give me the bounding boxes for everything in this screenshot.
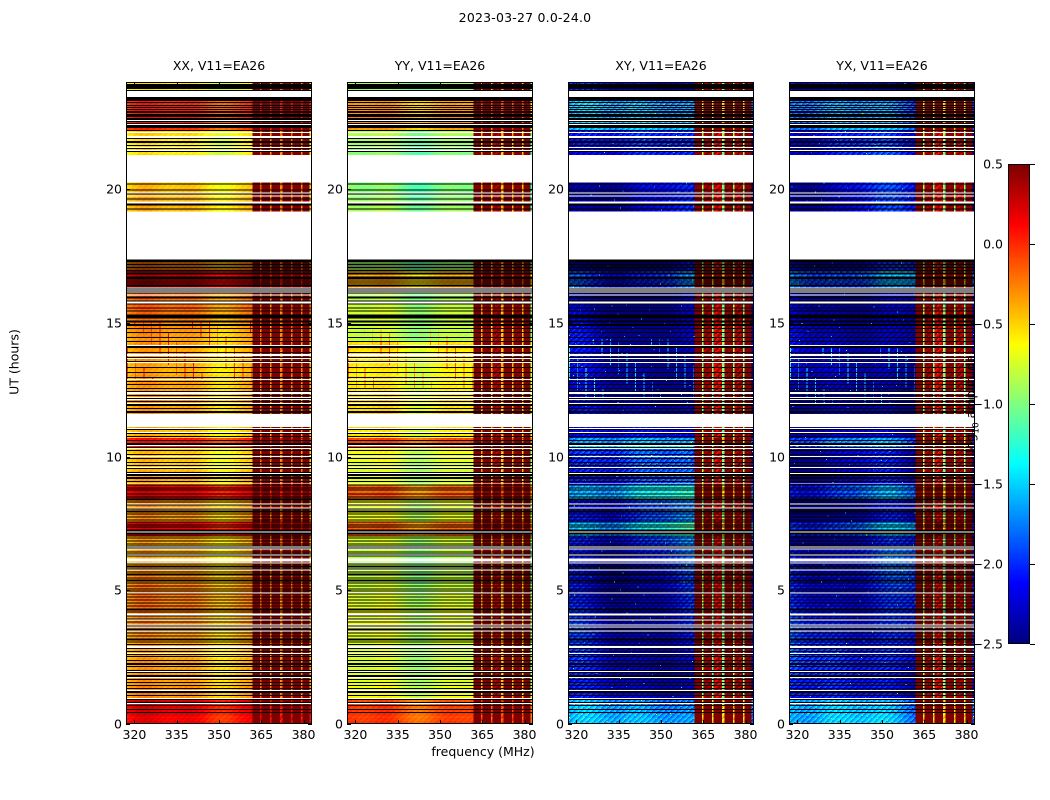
y-axis-tick-label: 15 [106,315,122,330]
x-axis-tick-mark-top [261,82,262,86]
x-axis-tick-mark-top [177,82,178,86]
y-axis-label: UT (hours) [7,329,22,395]
colorbar-tick-mark [1030,404,1035,405]
x-axis-tick-mark-top [355,82,356,86]
panel-title-yy: YY, V11=EA26 [347,58,533,76]
x-axis-tick-mark [924,720,925,724]
y-axis-tick-label: 15 [327,315,343,330]
figure-canvas: 2023-03-27 0.0-24.0 XX, V11=EA26 YY, V11… [0,0,1050,800]
heatmap-panel-yx[interactable] [789,82,975,724]
x-axis-tick-mark-top [619,82,620,86]
colorbar-tick-label: 0.0 [983,237,1003,252]
x-axis-tick-label: 335 [828,727,852,742]
colorbar-tick-mark [1030,644,1035,645]
x-axis-tick-mark [398,720,399,724]
colorbar-tick-label: −1.5 [973,477,1003,492]
x-axis-tick-mark-top [576,82,577,86]
y-axis-tick-mark [126,590,130,591]
x-axis-tick-label: 320 [565,727,589,742]
colorbar-tick-mark [1030,164,1035,165]
y-axis-tick-mark [347,457,351,458]
y-axis-tick-label: 15 [548,315,564,330]
y-axis-tick-label: 20 [769,182,785,197]
y-axis-tick-mark [789,457,793,458]
x-axis-tick-mark-top [482,82,483,86]
x-axis-tick-label: 365 [470,727,494,742]
colorbar-tick-mark [1030,564,1035,565]
x-axis-tick-label: 365 [691,727,715,742]
x-axis-tick-mark [219,720,220,724]
x-axis-tick-label: 365 [912,727,936,742]
x-axis-tick-mark-top [219,82,220,86]
x-axis-tick-label: 320 [344,727,368,742]
y-axis-tick-label: 10 [327,449,343,464]
x-axis-tick-label: 335 [165,727,189,742]
y-axis-tick-label: 0 [114,717,122,732]
y-axis-tick-mark [568,323,572,324]
y-axis-tick-label: 10 [106,449,122,464]
y-axis-tick-mark-right [971,724,975,725]
x-axis-tick-mark-top [703,82,704,86]
x-axis-tick-mark [661,720,662,724]
y-axis-tick-label: 0 [335,717,343,732]
x-axis-ticklabels-panel-1: 320335350365380 [347,727,533,743]
y-axis-tick-mark [789,189,793,190]
x-axis-tick-label: 350 [649,727,673,742]
x-axis-tick-mark-top [882,82,883,86]
panel-title-yx: YX, V11=EA26 [789,58,975,76]
heatmap-panel-yy[interactable] [347,82,533,724]
y-axis-tick-mark [789,323,793,324]
y-axis-tick-label: 20 [106,182,122,197]
y-axis-tick-label: 10 [548,449,564,464]
colorbar-tick-mark [1030,484,1035,485]
y-axis-tick-mark [789,590,793,591]
x-axis-tick-mark [261,720,262,724]
x-axis-tick-label: 365 [249,727,273,742]
y-axis-tick-label: 5 [114,583,122,598]
y-axis-ticklabels-panel-2: 20151050 [520,0,564,800]
y-axis-tick-mark [568,457,572,458]
x-axis-tick-mark [619,720,620,724]
y-axis-tick-mark [347,724,351,725]
x-axis-tick-mark [482,720,483,724]
x-axis-tick-mark [177,720,178,724]
y-axis-tick-mark [126,189,130,190]
x-axis-tick-mark [797,720,798,724]
y-axis-ticklabels-panel-3: 20151050 [741,0,785,800]
x-axis-tick-mark [703,720,704,724]
y-axis-ticklabels-panel-1: 20151050 [299,0,343,800]
x-axis-tick-mark-top [134,82,135,86]
colorbar-tick-label: −2.5 [973,637,1003,652]
x-axis-tick-mark-top [797,82,798,86]
x-axis-tick-mark [355,720,356,724]
panel-title-xx: XX, V11=EA26 [126,58,312,76]
y-axis-tick-label: 20 [548,182,564,197]
y-axis-tick-mark [347,323,351,324]
y-axis-tick-mark [789,724,793,725]
x-axis-tick-label: 335 [607,727,631,742]
colorbar-tick-label: −2.0 [973,557,1003,572]
x-axis-tick-label: 320 [786,727,810,742]
y-axis-tick-label: 5 [556,583,564,598]
y-axis-tick-mark [568,189,572,190]
x-axis-tick-mark [967,720,968,724]
x-axis-tick-mark-top [840,82,841,86]
y-axis-tick-mark-right [971,590,975,591]
x-axis-tick-mark-top [967,82,968,86]
y-axis-tick-mark-right [971,457,975,458]
x-axis-tick-mark-top [924,82,925,86]
x-axis-tick-label: 350 [870,727,894,742]
colorbar-tick-label: 0.5 [983,157,1003,172]
heatmap-panel-xx[interactable] [126,82,312,724]
y-axis-tick-mark [126,724,130,725]
heatmap-panel-xy[interactable] [568,82,754,724]
x-axis-tick-mark [840,720,841,724]
colorbar-tick-mark [1030,244,1035,245]
colorbar-label: log10 amplitude [963,355,982,453]
x-axis-tick-mark [440,720,441,724]
x-axis-tick-mark [882,720,883,724]
x-axis-ticklabels-panel-3: 320335350365380 [789,727,975,743]
y-axis-tick-mark-right [971,189,975,190]
y-axis-tick-mark [126,457,130,458]
x-axis-tick-label: 350 [207,727,231,742]
y-axis-tick-mark-right [971,323,975,324]
x-axis-tick-label: 320 [123,727,147,742]
x-axis-ticklabels-panel-0: 320335350365380 [126,727,312,743]
y-axis-tick-mark [126,323,130,324]
x-axis-tick-mark-top [661,82,662,86]
y-axis-tick-mark [347,590,351,591]
x-axis-ticklabels-panel-2: 320335350365380 [568,727,754,743]
x-axis-tick-mark-top [398,82,399,86]
y-axis-tick-label: 20 [327,182,343,197]
y-axis-tick-mark [568,724,572,725]
x-axis-tick-mark-top [440,82,441,86]
x-axis-tick-label: 380 [955,727,979,742]
colorbar [1008,164,1030,644]
x-axis-tick-label: 335 [386,727,410,742]
x-axis-tick-mark [134,720,135,724]
x-axis-tick-label: 350 [428,727,452,742]
y-axis-tick-label: 5 [777,583,785,598]
y-axis-tick-mark [568,590,572,591]
y-axis-tick-mark [347,189,351,190]
colorbar-tick-label: −0.5 [973,317,1003,332]
y-axis-tick-label: 5 [335,583,343,598]
y-axis-ticklabels-panel-0: 20151050 [78,0,122,800]
y-axis-tick-label: 0 [556,717,564,732]
y-axis-tick-label: 0 [777,717,785,732]
colorbar-tick-mark [1030,324,1035,325]
y-axis-tick-label: 10 [769,449,785,464]
x-axis-tick-mark [576,720,577,724]
panel-title-xy: XY, V11=EA26 [568,58,754,76]
y-axis-tick-label: 15 [769,315,785,330]
